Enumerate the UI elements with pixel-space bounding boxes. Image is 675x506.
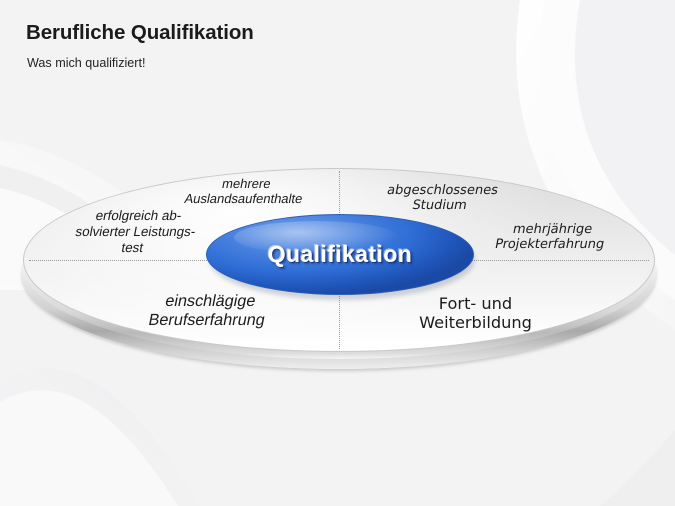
page-title: Berufliche Qualifikation [26, 22, 626, 45]
segment-label-fort-und-weiterbildung: Fort- und Weiterbildung [368, 294, 583, 332]
segment-label-abgeschlossenes-studium: abgeschlossenes Studium [349, 183, 533, 214]
slide-canvas: Berufliche Qualifikation Was mich qualif… [0, 0, 675, 506]
page-subtitle: Was mich qualifiziert! [27, 57, 626, 71]
slide-header: Berufliche Qualifikation Was mich qualif… [26, 22, 626, 70]
segment-label-mehrjaehrige-projekterfahrung: mehrjährige Projekterfahrung [459, 222, 643, 253]
segment-label-mehrere-auslandsaufenthalte: mehrere Auslandsaufenthalte [137, 176, 353, 207]
diagram-center-node: Qualifikation [206, 214, 476, 298]
center-node-label: Qualifikation [268, 241, 413, 268]
center-node-ellipse: Qualifikation [206, 214, 474, 295]
